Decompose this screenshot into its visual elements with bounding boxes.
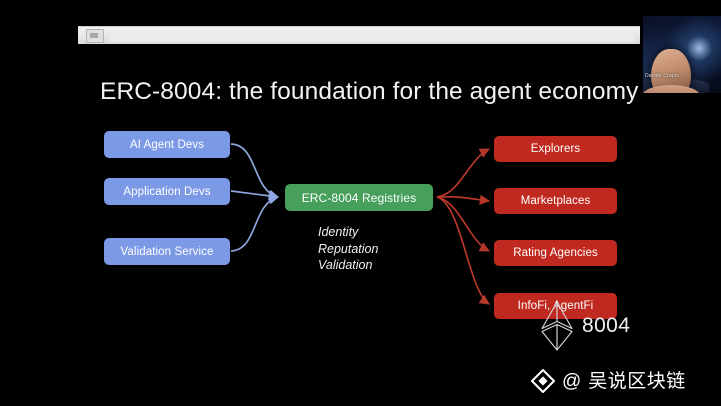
ethereum-logo-icon (540, 300, 574, 352)
node-ai-agent-devs: AI Agent Devs (104, 131, 230, 158)
node-explorers: Explorers (494, 136, 617, 162)
registry-functions-list: Identity Reputation Validation (318, 224, 378, 274)
webcam-name-label: Davide Crapis (645, 73, 679, 79)
address-bar[interactable] (110, 30, 634, 42)
node-rating-agencies: Rating Agencies (494, 240, 617, 266)
diamond-logo-icon (531, 369, 555, 393)
registry-function-reputation: Reputation (318, 241, 378, 258)
registry-function-validation: Validation (318, 257, 378, 274)
node-validation-service: Validation Service (104, 238, 230, 265)
webcam-speaker-face (651, 49, 691, 93)
webcam-video-overlay[interactable]: Davide Crapis (643, 16, 721, 93)
registry-function-identity: Identity (318, 224, 378, 241)
screen-share-region: ERC-8004: the foundation for the agent e… (0, 0, 721, 406)
slide-title: ERC-8004: the foundation for the agent e… (100, 78, 639, 106)
watermark-at-symbol: @ (562, 372, 581, 391)
presentation-slide: ERC-8004: the foundation for the agent e… (0, 44, 721, 406)
node-application-devs: Application Devs (104, 178, 230, 205)
ethereum-mark: 8004 (540, 300, 630, 352)
browser-tab-icon[interactable] (86, 29, 104, 43)
browser-toolbar[interactable] (78, 26, 640, 44)
watermark-channel-name: 吴说区块链 (588, 372, 686, 391)
watermark: @ 吴说区块链 (531, 369, 686, 393)
ethereum-number: 8004 (582, 314, 630, 338)
node-erc-8004-registries: ERC-8004 Registries (285, 184, 433, 211)
node-marketplaces: Marketplaces (494, 188, 617, 214)
